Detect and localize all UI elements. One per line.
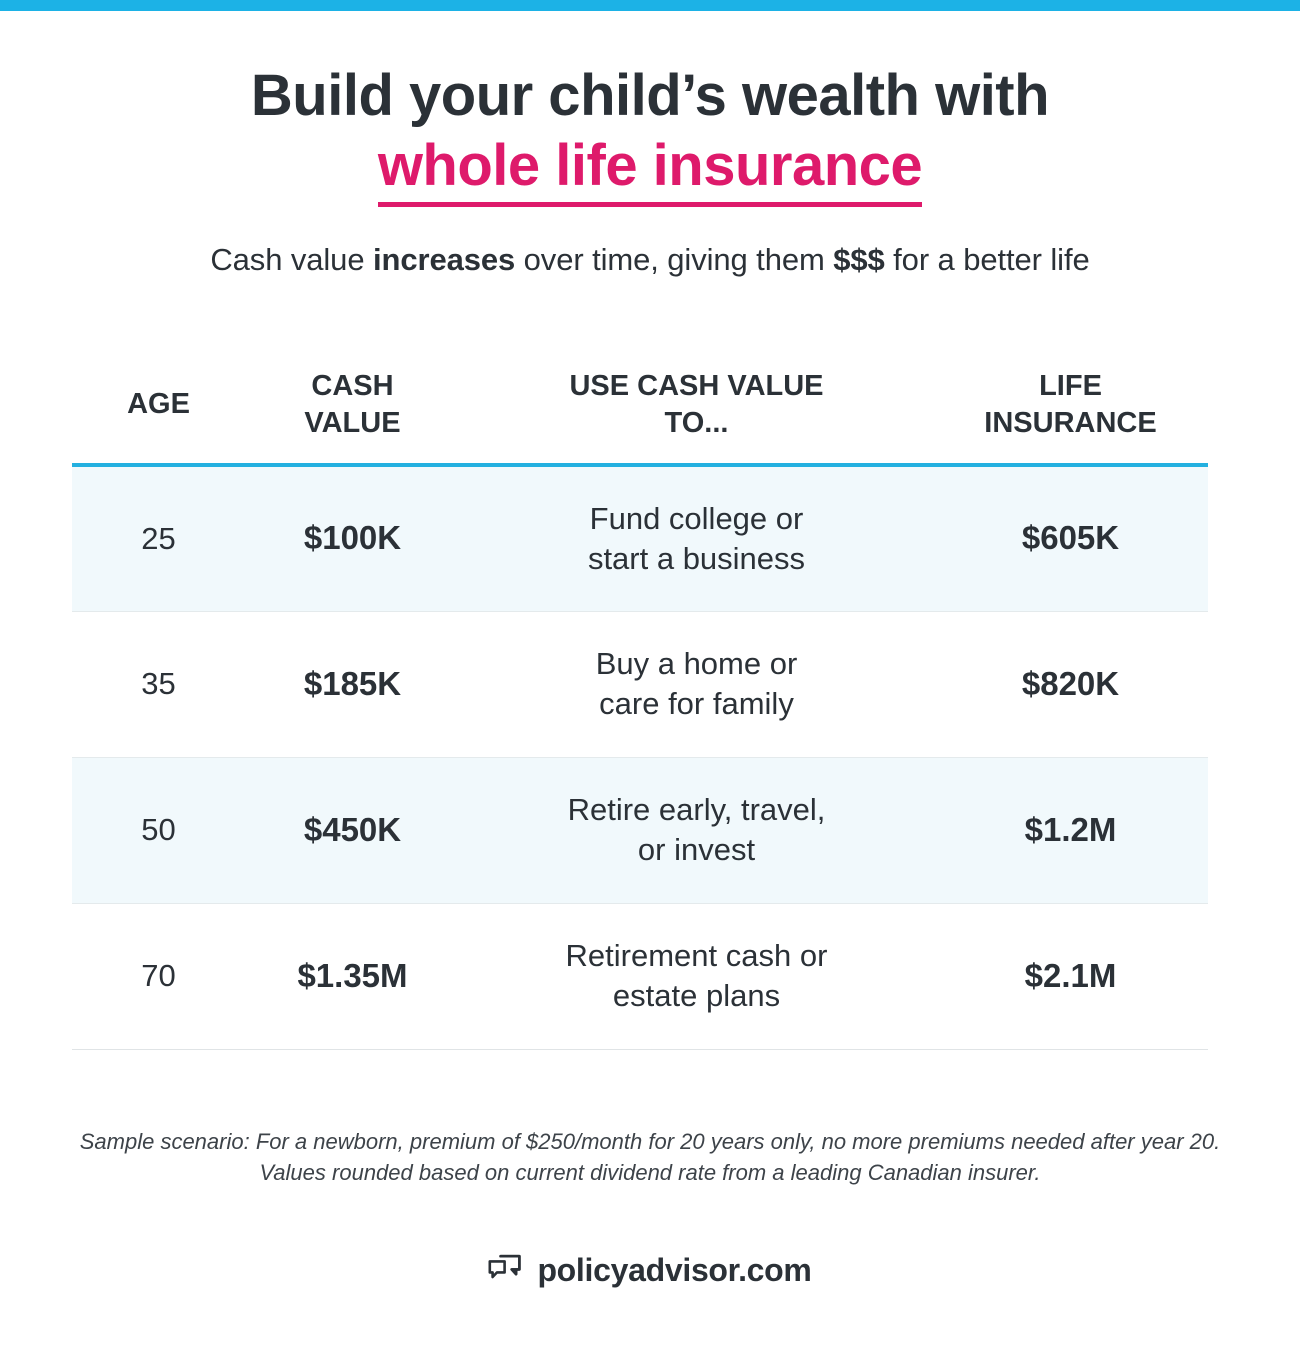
cash-value-table-container: AGE CASH VALUE USE CASH VALUE TO... LIFE… <box>72 368 1208 1050</box>
subtitle-part-1: Cash value <box>210 242 373 277</box>
column-header-life-insurance: LIFE INSURANCE <box>933 368 1208 465</box>
table-row: 35 $185K Buy a home or care for family $… <box>72 611 1208 757</box>
speech-bubbles-icon <box>488 1254 522 1288</box>
column-header-use-cash-value-to: USE CASH VALUE TO... <box>460 368 933 465</box>
cell-use-line-1: Fund college or <box>590 501 804 536</box>
column-header-age: AGE <box>72 368 245 465</box>
cash-value-table: AGE CASH VALUE USE CASH VALUE TO... LIFE… <box>72 368 1208 1050</box>
column-header-use-line-1: USE CASH VALUE <box>569 370 823 402</box>
column-header-age-label: AGE <box>127 388 190 420</box>
table-body: 25 $100K Fund college or start a busines… <box>72 465 1208 1049</box>
subtitle-emphasis-increases: increases <box>373 242 515 277</box>
cell-life-insurance: $2.1M <box>933 903 1208 1049</box>
column-header-cash-value-line-1: CASH <box>311 370 393 402</box>
cell-use-cash-value-to: Buy a home or care for family <box>460 611 933 757</box>
headline-line-1: Build your child’s wealth with <box>0 62 1300 130</box>
cell-life-insurance: $605K <box>933 465 1208 611</box>
cell-cash-value: $1.35M <box>245 903 460 1049</box>
page-subtitle: Cash value increases over time, giving t… <box>0 242 1300 278</box>
cell-use-cash-value-to: Fund college or start a business <box>460 465 933 611</box>
cell-use-line-2: or invest <box>638 832 755 867</box>
column-header-life-line-2: INSURANCE <box>984 407 1156 439</box>
top-accent-bar <box>0 0 1300 11</box>
subtitle-emphasis-dollars: $$$ <box>833 242 884 277</box>
footnote-disclaimer: Sample scenario: For a newborn, premium … <box>65 1126 1235 1188</box>
table-header: AGE CASH VALUE USE CASH VALUE TO... LIFE… <box>72 368 1208 465</box>
table-row: 70 $1.35M Retirement cash or estate plan… <box>72 903 1208 1049</box>
cell-use-line-2: estate plans <box>613 978 780 1013</box>
cell-cash-value: $185K <box>245 611 460 757</box>
cell-life-insurance: $1.2M <box>933 757 1208 903</box>
subtitle-part-3: for a better life <box>885 242 1090 277</box>
cell-cash-value: $450K <box>245 757 460 903</box>
page-title: Build your child’s wealth with whole lif… <box>0 62 1300 207</box>
column-header-cash-value-line-2: VALUE <box>304 407 400 439</box>
cell-life-insurance: $820K <box>933 611 1208 757</box>
cell-use-line-1: Retirement cash or <box>566 938 828 973</box>
table-row: 25 $100K Fund college or start a busines… <box>72 465 1208 611</box>
cell-use-line-1: Retire early, travel, <box>568 792 826 827</box>
brand-logo: policyadvisor.com <box>0 1252 1300 1289</box>
table-row: 50 $450K Retire early, travel, or invest… <box>72 757 1208 903</box>
cell-cash-value: $100K <box>245 465 460 611</box>
cell-age: 70 <box>72 903 245 1049</box>
brand-logo-text: policyadvisor.com <box>537 1252 811 1289</box>
subtitle-part-2: over time, giving them <box>515 242 833 277</box>
headline-line-2-highlighted: whole life insurance <box>378 132 922 207</box>
column-header-life-line-1: LIFE <box>1039 370 1102 402</box>
column-header-cash-value: CASH VALUE <box>245 368 460 465</box>
cell-age: 50 <box>72 757 245 903</box>
cell-age: 35 <box>72 611 245 757</box>
cell-use-line-1: Buy a home or <box>596 646 798 681</box>
column-header-use-line-2: TO... <box>665 407 729 439</box>
cell-age: 25 <box>72 465 245 611</box>
cell-use-line-2: start a business <box>588 541 805 576</box>
table-header-row: AGE CASH VALUE USE CASH VALUE TO... LIFE… <box>72 368 1208 465</box>
cell-use-cash-value-to: Retirement cash or estate plans <box>460 903 933 1049</box>
footnote-line-1: Sample scenario: For a newborn, premium … <box>80 1129 1135 1154</box>
cell-use-line-2: care for family <box>599 686 794 721</box>
cell-use-cash-value-to: Retire early, travel, or invest <box>460 757 933 903</box>
